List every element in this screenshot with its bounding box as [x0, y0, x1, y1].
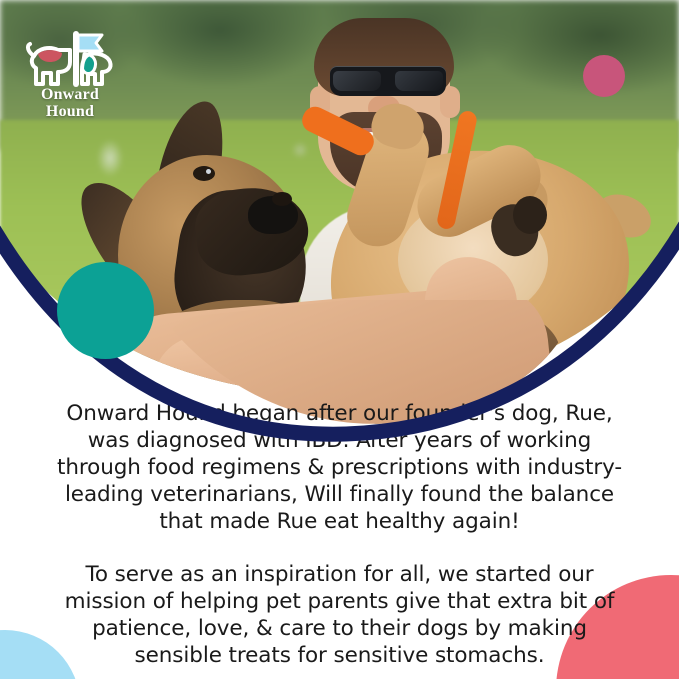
shepherd-eye-left — [193, 166, 215, 181]
logo-word-line-2: Hound — [22, 103, 118, 120]
logo-wordmark: Onward Hound — [22, 86, 118, 120]
teal-accent-circle — [57, 262, 154, 359]
brand-story-panel: Onward Hound Onward Hound began after ou… — [0, 0, 679, 679]
pink-accent-circle — [583, 55, 625, 97]
logo-word-line-1: Onward — [22, 86, 118, 103]
story-paragraph-2: To serve as an inspiration for all, we s… — [52, 561, 627, 669]
sunglasses-icon — [330, 66, 446, 96]
